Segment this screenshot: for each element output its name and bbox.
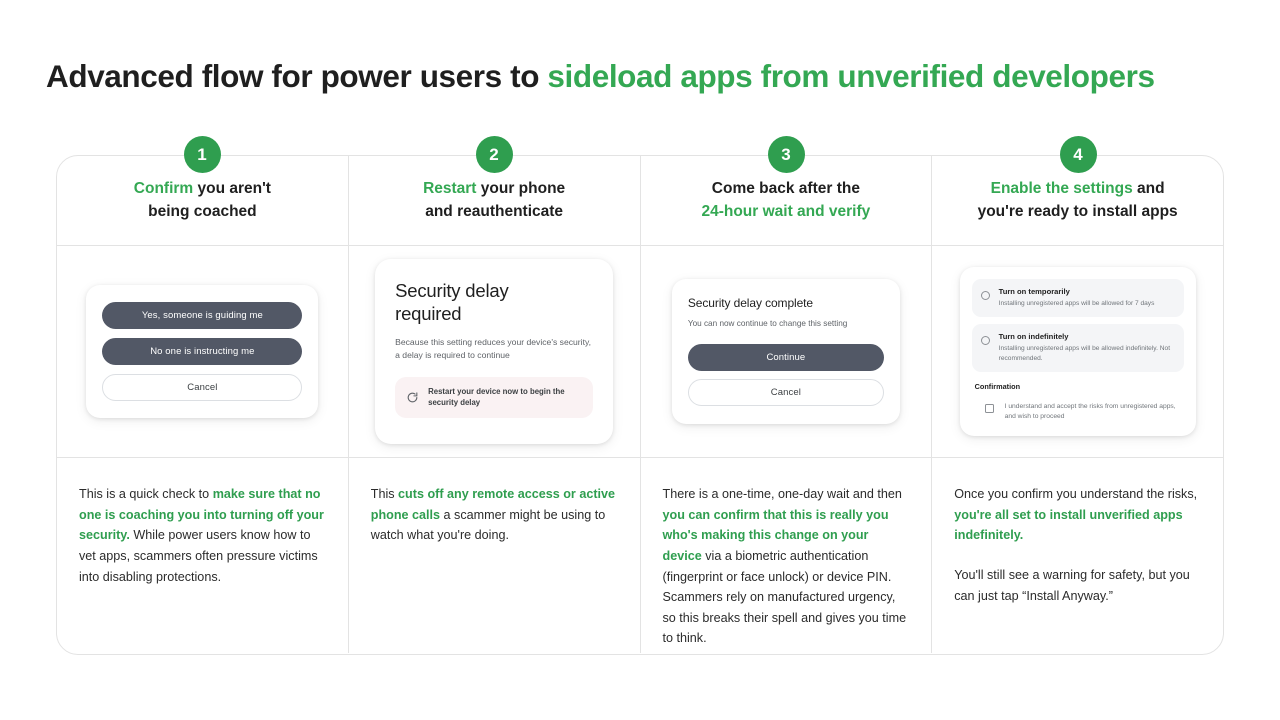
page-title-plain: Advanced flow for power users to	[46, 58, 547, 94]
continue-button[interactable]: Continue	[688, 344, 884, 371]
option-temporarily-text: Turn on temporarily Installing unregiste…	[999, 287, 1155, 308]
step-header-text-3: Come back after the 24-hour wait and ver…	[701, 178, 870, 223]
cancel-button[interactable]: Cancel	[102, 374, 302, 401]
step-header-line2-2: and reauthenticate	[425, 203, 563, 220]
cancel-button[interactable]: Cancel	[688, 379, 884, 406]
confirmation-label: Confirmation	[975, 382, 1184, 391]
step-badge-3: 3	[768, 136, 805, 173]
step-header-text-2: Restart your phone and reauthenticate	[423, 178, 565, 223]
restart-notice: Restart your device now to begin the sec…	[395, 377, 593, 418]
option-temporarily-title: Turn on temporarily	[999, 287, 1155, 297]
option-indefinitely-title: Turn on indefinitely	[999, 332, 1174, 342]
description-highlight: you're all set to install unverified app…	[954, 508, 1182, 543]
description-text: There is a one-time, one-day wait and th…	[663, 487, 902, 501]
step-header-rest-1: you aren't	[193, 180, 271, 197]
option-yes-guided-button[interactable]: Yes, someone is guiding me	[102, 302, 302, 329]
confirmation-checkbox-icon[interactable]	[985, 404, 994, 413]
step-header-accent-1: Confirm	[134, 180, 193, 197]
delay-complete-actions: Continue Cancel	[688, 344, 884, 406]
step-mockup-4: Turn on temporarily Installing unregiste…	[932, 246, 1223, 457]
step-badge-4: 4	[1060, 136, 1097, 173]
description-paragraph: Once you confirm you understand the risk…	[954, 484, 1201, 546]
step-header-line2-4: you're ready to install apps	[978, 203, 1178, 220]
enable-settings-dialog: Turn on temporarily Installing unregiste…	[960, 267, 1196, 436]
step-description-1: This is a quick check to make sure that …	[57, 458, 349, 653]
step-badge-1: 1	[184, 136, 221, 173]
description-text: This is a quick check to	[79, 487, 213, 501]
delay-complete-body: You can now continue to change this sett…	[688, 318, 884, 330]
step-description-3: There is a one-time, one-day wait and th…	[641, 458, 933, 653]
description-text: via a biometric authentication (fingerpr…	[663, 549, 907, 646]
restart-notice-text: Restart your device now to begin the sec…	[428, 386, 582, 409]
option-no-instruction-button[interactable]: No one is instructing me	[102, 338, 302, 365]
description-text: You'll still see a warning for safety, b…	[954, 568, 1190, 603]
step-header-plain-3: Come back after the	[712, 180, 860, 197]
security-delay-title-line2: required	[395, 303, 461, 324]
step-mockup-3: Security delay complete You can now cont…	[641, 246, 933, 457]
description-text: Once you confirm you understand the risk…	[954, 487, 1197, 501]
board-header-row: Confirm you aren't being coached Restart…	[57, 156, 1223, 246]
option-turn-on-temporarily[interactable]: Turn on temporarily Installing unregiste…	[972, 279, 1184, 317]
page-title-accent: sideload apps from unverified developers	[547, 58, 1154, 94]
board-description-row: This is a quick check to make sure that …	[57, 458, 1223, 653]
option-indefinitely-sub: Installing unregistered apps will be all…	[999, 344, 1174, 363]
description-paragraph: This is a quick check to make sure that …	[79, 484, 326, 587]
step-description-2: This cuts off any remote access or activ…	[349, 458, 641, 653]
radio-indefinitely-icon[interactable]	[981, 336, 990, 345]
board-mockup-row: Yes, someone is guiding me No one is ins…	[57, 246, 1223, 458]
step-header-accent-2: Restart	[423, 180, 476, 197]
description-paragraph: There is a one-time, one-day wait and th…	[663, 484, 910, 649]
option-temporarily-sub: Installing unregistered apps will be all…	[999, 299, 1155, 309]
security-delay-body: Because this setting reduces your device…	[395, 336, 593, 363]
step-header-text-4: Enable the settings and you're ready to …	[978, 178, 1178, 223]
step-description-4: Once you confirm you understand the risk…	[932, 458, 1223, 653]
option-indefinitely-text: Turn on indefinitely Installing unregist…	[999, 332, 1174, 363]
infographic-page: Advanced flow for power users to sideloa…	[0, 0, 1280, 720]
step-header-rest-4: and	[1133, 180, 1165, 197]
step-header-rest-2: your phone	[476, 180, 565, 197]
restart-icon	[406, 391, 419, 404]
step-mockup-2: Security delay required Because this set…	[349, 246, 641, 457]
page-title: Advanced flow for power users to sideloa…	[46, 56, 1241, 96]
confirmation-row[interactable]: I understand and accept the risks from u…	[972, 402, 1184, 422]
security-delay-title-line1: Security delay	[395, 280, 508, 301]
confirmation-text: I understand and accept the risks from u…	[1005, 402, 1184, 422]
option-turn-on-indefinitely[interactable]: Turn on indefinitely Installing unregist…	[972, 324, 1184, 372]
step-header-text-1: Confirm you aren't being coached	[134, 178, 271, 223]
coaching-check-dialog: Yes, someone is guiding me No one is ins…	[86, 285, 318, 418]
step-badge-2: 2	[476, 136, 513, 173]
security-delay-required-dialog: Security delay required Because this set…	[375, 259, 613, 444]
step-header-line2-1: being coached	[148, 203, 257, 220]
description-paragraph: This cuts off any remote access or activ…	[371, 484, 618, 546]
security-delay-complete-dialog: Security delay complete You can now cont…	[672, 279, 900, 423]
step-header-accent-4: Enable the settings	[991, 180, 1133, 197]
step-mockup-1: Yes, someone is guiding me No one is ins…	[57, 246, 349, 457]
description-text: This	[371, 487, 398, 501]
steps-board: Confirm you aren't being coached Restart…	[56, 155, 1224, 655]
description-paragraph: You'll still see a warning for safety, b…	[954, 565, 1201, 606]
radio-temporarily-icon[interactable]	[981, 291, 990, 300]
security-delay-title: Security delay required	[395, 280, 593, 325]
step-header-accent-3: 24-hour wait and verify	[701, 203, 870, 220]
delay-complete-title: Security delay complete	[688, 296, 884, 310]
